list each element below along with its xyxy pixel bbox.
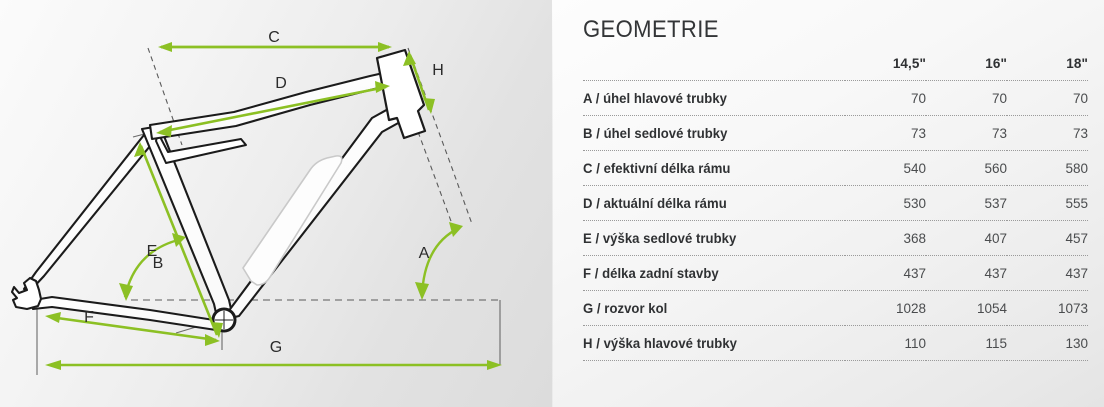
measurement-arrows	[45, 42, 502, 370]
down-tube	[222, 108, 400, 320]
table-row: D / aktuální délka rámu 530 537 555	[583, 186, 1088, 221]
row-value-1: 70	[926, 81, 1007, 116]
row-label: G / rozvor kol	[583, 291, 837, 326]
label-F: F	[84, 309, 94, 326]
label-H: H	[432, 62, 444, 79]
label-B: B	[153, 255, 164, 272]
row-value-2: 73	[1007, 116, 1088, 151]
row-value-0: 368	[845, 221, 926, 256]
table-row: A / úhel hlavové trubky 70 70 70	[583, 81, 1088, 116]
row-label: D / aktuální délka rámu	[583, 186, 837, 221]
panel-divider	[552, 0, 553, 407]
row-value-2: 555	[1007, 186, 1088, 221]
geometry-table: 14,5" 16" 18" A / úhel hlavové trubky 70…	[583, 56, 1088, 361]
downtube-battery-panel	[243, 156, 342, 285]
header-size-1: 16"	[926, 56, 1007, 81]
row-value-0: 73	[845, 116, 926, 151]
label-C: C	[268, 29, 280, 46]
row-value-1: 537	[926, 186, 1007, 221]
row-value-1: 73	[926, 116, 1007, 151]
row-label: E / výška sedlové trubky	[583, 221, 837, 256]
row-value-0: 70	[845, 81, 926, 116]
row-value-2: 580	[1007, 151, 1088, 186]
page-title: GEOMETRIE	[583, 16, 719, 44]
row-value-2: 437	[1007, 256, 1088, 291]
table-row: E / výška sedlové trubky 368 407 457	[583, 221, 1088, 256]
row-value-1: 437	[926, 256, 1007, 291]
row-value-2: 457	[1007, 221, 1088, 256]
row-value-0: 437	[845, 256, 926, 291]
row-value-0: 540	[845, 151, 926, 186]
table-row: C / efektivní délka rámu 540 560 580	[583, 151, 1088, 186]
table-row: G / rozvor kol 1028 1054 1073	[583, 291, 1088, 326]
row-value-1: 560	[926, 151, 1007, 186]
arrow-D	[160, 87, 386, 132]
header-size-0: 14,5"	[845, 56, 926, 81]
frame-diagram-panel: C D H E B A F G	[0, 0, 552, 407]
row-value-0: 110	[845, 326, 926, 361]
row-value-0: 1028	[845, 291, 926, 326]
table-body: A / úhel hlavové trubky 70 70 70 B / úhe…	[583, 81, 1088, 361]
top-tube	[150, 72, 390, 139]
row-value-1: 407	[926, 221, 1007, 256]
table-head: 14,5" 16" 18"	[583, 56, 1088, 81]
row-label: C / efektivní délka rámu	[583, 151, 837, 186]
row-label: H / výška hlavové trubky	[583, 326, 837, 361]
row-value-1: 1054	[926, 291, 1007, 326]
table-row: F / délka zadní stavby 437 437 437	[583, 256, 1088, 291]
geometry-table-panel: GEOMETRIE 14,5" 16" 18" A / úhel hlavové…	[552, 0, 1104, 407]
table-header-row: 14,5" 16" 18"	[583, 56, 1088, 81]
seat-stay-tube	[24, 130, 150, 291]
label-A: A	[419, 245, 430, 262]
header-size-2: 18"	[1007, 56, 1088, 81]
row-label: A / úhel hlavové trubky	[583, 81, 837, 116]
row-value-1: 115	[926, 326, 1007, 361]
row-label: B / úhel sedlové trubky	[583, 116, 837, 151]
header-measure	[583, 56, 845, 81]
row-value-2: 130	[1007, 326, 1088, 361]
rear-dropout	[12, 278, 41, 309]
table-row: B / úhel sedlové trubky 73 73 73	[583, 116, 1088, 151]
row-value-0: 530	[845, 186, 926, 221]
geometry-spec-sheet: C D H E B A F G GEOMETRIE 14,5" 16"	[0, 0, 1104, 407]
row-label: F / délka zadní stavby	[583, 256, 837, 291]
row-value-2: 1073	[1007, 291, 1088, 326]
row-value-2: 70	[1007, 81, 1088, 116]
table-row: H / výška hlavové trubky 110 115 130	[583, 326, 1088, 361]
bicycle-frame-geometry-diagram: C D H E B A F G	[0, 0, 552, 407]
label-D: D	[275, 75, 287, 92]
label-G: G	[270, 339, 282, 356]
